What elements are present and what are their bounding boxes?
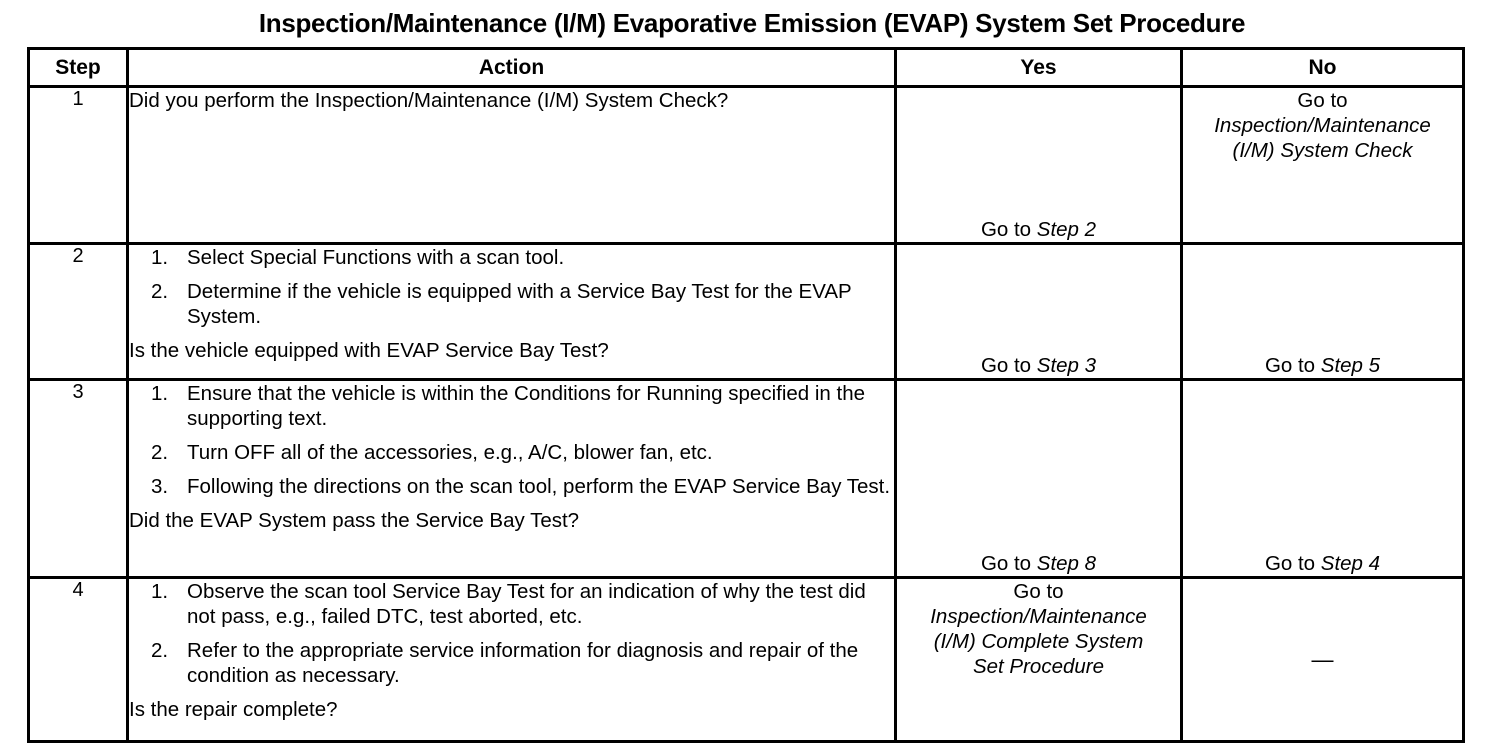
- table-row: 3 1. Ensure that the vehicle is within t…: [29, 380, 1464, 578]
- action-question: Is the vehicle equipped with EVAP Servic…: [129, 338, 894, 363]
- step-number: 4: [29, 578, 128, 742]
- yes-prefix: Go to: [981, 218, 1037, 241]
- yes-reference: Step 2: [1037, 218, 1096, 241]
- action-cell: Did you perform the Inspection/Maintenan…: [128, 87, 896, 244]
- no-reference: Step 5: [1321, 354, 1380, 377]
- list-item: 1. Observe the scan tool Service Bay Tes…: [129, 579, 894, 629]
- column-header-step: Step: [29, 49, 128, 87]
- list-item-text: Ensure that the vehicle is within the Co…: [187, 382, 865, 430]
- yes-reference-line: Set Procedure: [897, 654, 1180, 679]
- action-question: Did the EVAP System pass the Service Bay…: [129, 508, 894, 533]
- yes-answer: Go to Step 2: [897, 217, 1180, 242]
- table-row: 2 1. Select Special Functions with a sca…: [29, 244, 1464, 380]
- column-header-no: No: [1182, 49, 1464, 87]
- no-reference-line: Inspection/Maintenance: [1183, 113, 1462, 138]
- list-item: 2. Refer to the appropriate service info…: [129, 638, 894, 688]
- no-cell: Go to Step 4: [1182, 380, 1464, 578]
- list-item-number: 1.: [151, 245, 181, 270]
- yes-cell: Go to Step 3: [896, 244, 1182, 380]
- no-prefix: Go to: [1183, 88, 1462, 113]
- step-number: 3: [29, 380, 128, 578]
- action-cell: 1. Select Special Functions with a scan …: [128, 244, 896, 380]
- action-step-list: 1. Select Special Functions with a scan …: [129, 245, 894, 329]
- column-header-action: Action: [128, 49, 896, 87]
- list-item: 3. Following the directions on the scan …: [129, 474, 894, 499]
- list-item: 1. Select Special Functions with a scan …: [129, 245, 894, 270]
- yes-cell: Go to Inspection/Maintenance (I/M) Compl…: [896, 578, 1182, 742]
- list-item-number: 3.: [151, 474, 181, 499]
- list-item-text: Select Special Functions with a scan too…: [187, 246, 564, 269]
- no-reference-line: (I/M) System Check: [1183, 138, 1462, 163]
- no-answer: Go to Step 4: [1183, 551, 1462, 576]
- table-row: 4 1. Observe the scan tool Service Bay T…: [29, 578, 1464, 742]
- list-item: 2. Turn OFF all of the accessories, e.g.…: [129, 440, 894, 465]
- no-cell: Go to Inspection/Maintenance (I/M) Syste…: [1182, 87, 1464, 244]
- column-header-yes: Yes: [896, 49, 1182, 87]
- yes-prefix: Go to: [897, 579, 1180, 604]
- yes-cell: Go to Step 2: [896, 87, 1182, 244]
- no-prefix: Go to: [1265, 354, 1321, 377]
- no-answer: Go to Step 5: [1183, 353, 1462, 378]
- list-item-text: Determine if the vehicle is equipped wit…: [187, 280, 851, 328]
- yes-reference: Step 3: [1037, 354, 1096, 377]
- yes-reference: Step 8: [1037, 552, 1096, 575]
- list-item-number: 2.: [151, 440, 181, 465]
- no-prefix: Go to: [1265, 552, 1321, 575]
- list-item: 1. Ensure that the vehicle is within the…: [129, 381, 894, 431]
- list-item-number: 2.: [151, 279, 181, 304]
- step-number: 1: [29, 87, 128, 244]
- yes-reference-line: (I/M) Complete System: [897, 629, 1180, 654]
- action-cell: 1. Ensure that the vehicle is within the…: [128, 380, 896, 578]
- no-reference: Step 4: [1321, 552, 1380, 575]
- procedure-table: Step Action Yes No 1 Did you perform the…: [27, 47, 1465, 743]
- yes-reference-line: Inspection/Maintenance: [897, 604, 1180, 629]
- no-cell: Go to Step 5: [1182, 244, 1464, 380]
- list-item-text: Refer to the appropriate service informa…: [187, 639, 858, 687]
- list-item-text: Following the directions on the scan too…: [187, 475, 890, 498]
- no-cell: —: [1182, 578, 1464, 742]
- action-cell: 1. Observe the scan tool Service Bay Tes…: [128, 578, 896, 742]
- action-step-list: 1. Observe the scan tool Service Bay Tes…: [129, 579, 894, 688]
- page-title: Inspection/Maintenance (I/M) Evaporative…: [0, 8, 1504, 38]
- yes-answer: Go to Step 8: [897, 551, 1180, 576]
- document-page: Inspection/Maintenance (I/M) Evaporative…: [0, 0, 1504, 724]
- list-item-number: 2.: [151, 638, 181, 663]
- yes-prefix: Go to: [981, 552, 1037, 575]
- no-dash: —: [1183, 649, 1462, 671]
- table-row: 1 Did you perform the Inspection/Mainten…: [29, 87, 1464, 244]
- list-item-text: Observe the scan tool Service Bay Test f…: [187, 580, 866, 628]
- action-step-list: 1. Ensure that the vehicle is within the…: [129, 381, 894, 499]
- yes-cell: Go to Step 8: [896, 380, 1182, 578]
- list-item: 2. Determine if the vehicle is equipped …: [129, 279, 894, 329]
- yes-answer: Go to Step 3: [897, 353, 1180, 378]
- list-item-text: Turn OFF all of the accessories, e.g., A…: [187, 441, 713, 464]
- table-header-row: Step Action Yes No: [29, 49, 1464, 87]
- action-question: Is the repair complete?: [129, 697, 894, 722]
- list-item-number: 1.: [151, 381, 181, 406]
- step-number: 2: [29, 244, 128, 380]
- yes-prefix: Go to: [981, 354, 1037, 377]
- list-item-number: 1.: [151, 579, 181, 604]
- action-lead-text: Did you perform the Inspection/Maintenan…: [129, 88, 894, 113]
